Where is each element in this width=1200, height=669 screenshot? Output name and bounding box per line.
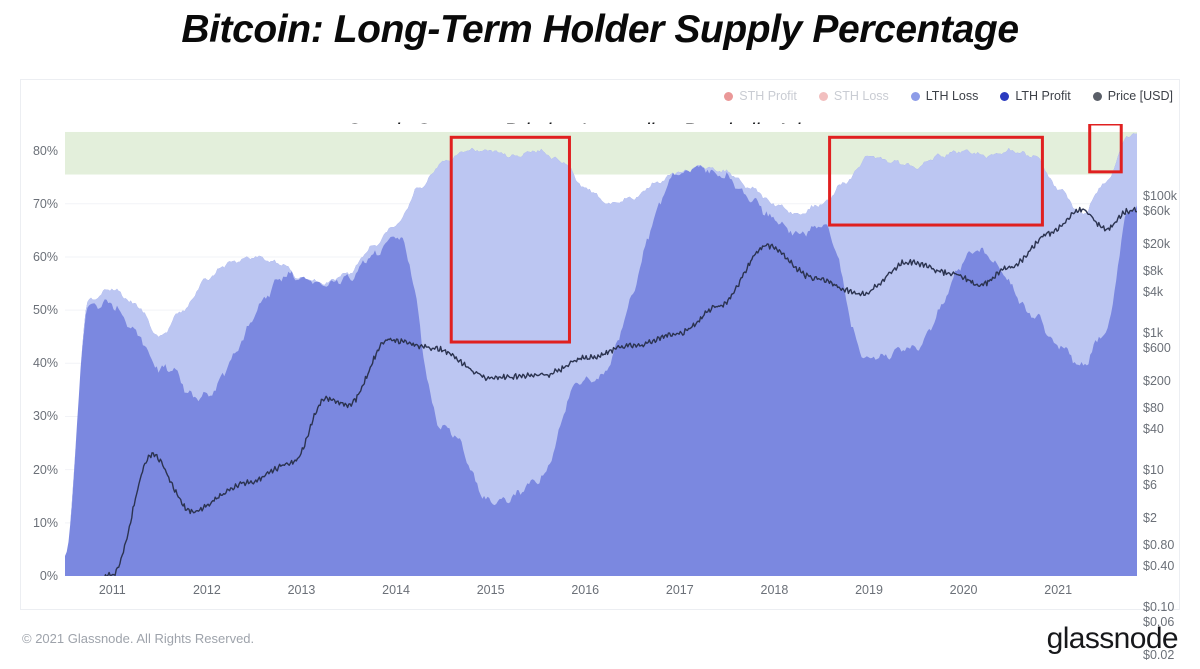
price-tick-6: $600: [1143, 341, 1171, 355]
price-tick-5: $1k: [1143, 326, 1163, 340]
price-tick-8: $80: [1143, 401, 1164, 415]
price-tick-3: $8k: [1143, 264, 1163, 278]
x-tick-2011: 2011: [99, 583, 126, 597]
x-tick-2017: 2017: [666, 583, 694, 597]
price-tick-9: $40: [1143, 422, 1164, 436]
legend-item-sth-profit[interactable]: STH Profit: [724, 89, 797, 103]
legend-item-sth-loss[interactable]: STH Loss: [819, 89, 889, 103]
legend-dot-lth-loss: [911, 92, 920, 101]
y-tick-50: 50%: [33, 303, 58, 317]
x-tick-2019: 2019: [855, 583, 883, 597]
y-tick-30: 30%: [33, 409, 58, 423]
legend-label-lth-profit: LTH Profit: [1015, 89, 1070, 103]
legend-label-sth-profit: STH Profit: [739, 89, 797, 103]
legend-dot-price: [1093, 92, 1102, 101]
x-tick-2014: 2014: [382, 583, 410, 597]
price-tick-13: $0.80: [1143, 538, 1174, 552]
price-tick-0: $100k: [1143, 189, 1177, 203]
price-tick-10: $10: [1143, 463, 1164, 477]
legend-label-price: Price [USD]: [1108, 89, 1173, 103]
plot-area: glassnode: [65, 124, 1137, 576]
legend-dot-sth-profit: [724, 92, 733, 101]
y-tick-80: 80%: [33, 144, 58, 158]
legend-label-sth-loss: STH Loss: [834, 89, 889, 103]
price-tick-7: $200: [1143, 374, 1171, 388]
x-tick-2012: 2012: [193, 583, 221, 597]
price-tick-12: $2: [1143, 511, 1157, 525]
copyright-text: © 2021 Glassnode. All Rights Reserved.: [22, 631, 254, 646]
x-axis: 2011201220132014201520162017201820192020…: [65, 580, 1137, 604]
price-tick-2: $20k: [1143, 237, 1170, 251]
price-tick-14: $0.40: [1143, 559, 1174, 573]
chart-legend: STH Profit STH Loss LTH Loss LTH Profit …: [724, 87, 1173, 105]
chart-panel: STH Profit STH Loss LTH Loss LTH Profit …: [20, 79, 1180, 610]
y-tick-20: 20%: [33, 463, 58, 477]
page-title: Bitcoin: Long-Term Holder Supply Percent…: [0, 8, 1200, 52]
y-tick-0: 0%: [40, 569, 58, 583]
x-tick-2018: 2018: [761, 583, 789, 597]
legend-dot-sth-loss: [819, 92, 828, 101]
y-axis-left: 0%10%20%30%40%50%60%70%80%: [21, 124, 65, 576]
price-tick-4: $4k: [1143, 285, 1163, 299]
x-tick-2015: 2015: [477, 583, 505, 597]
y-tick-10: 10%: [33, 516, 58, 530]
legend-item-lth-loss[interactable]: LTH Loss: [911, 89, 979, 103]
price-tick-11: $6: [1143, 478, 1157, 492]
price-tick-1: $60k: [1143, 204, 1170, 218]
legend-item-price[interactable]: Price [USD]: [1093, 89, 1173, 103]
price-tick-15: $0.10: [1143, 600, 1174, 614]
x-tick-2021: 2021: [1044, 583, 1072, 597]
glassnode-logo: glassnode: [1047, 622, 1178, 656]
legend-label-lth-loss: LTH Loss: [926, 89, 979, 103]
y-tick-60: 60%: [33, 250, 58, 264]
y-tick-40: 40%: [33, 356, 58, 370]
y-tick-70: 70%: [33, 197, 58, 211]
x-tick-2020: 2020: [950, 583, 978, 597]
y-axis-right-price: $100k$60k$20k$8k$4k$1k$600$200$80$40$10$…: [1137, 124, 1181, 576]
legend-dot-lth-profit: [1000, 92, 1009, 101]
chart-svg: [65, 124, 1137, 576]
x-tick-2016: 2016: [571, 583, 599, 597]
legend-item-lth-profit[interactable]: LTH Profit: [1000, 89, 1070, 103]
x-tick-2013: 2013: [288, 583, 316, 597]
